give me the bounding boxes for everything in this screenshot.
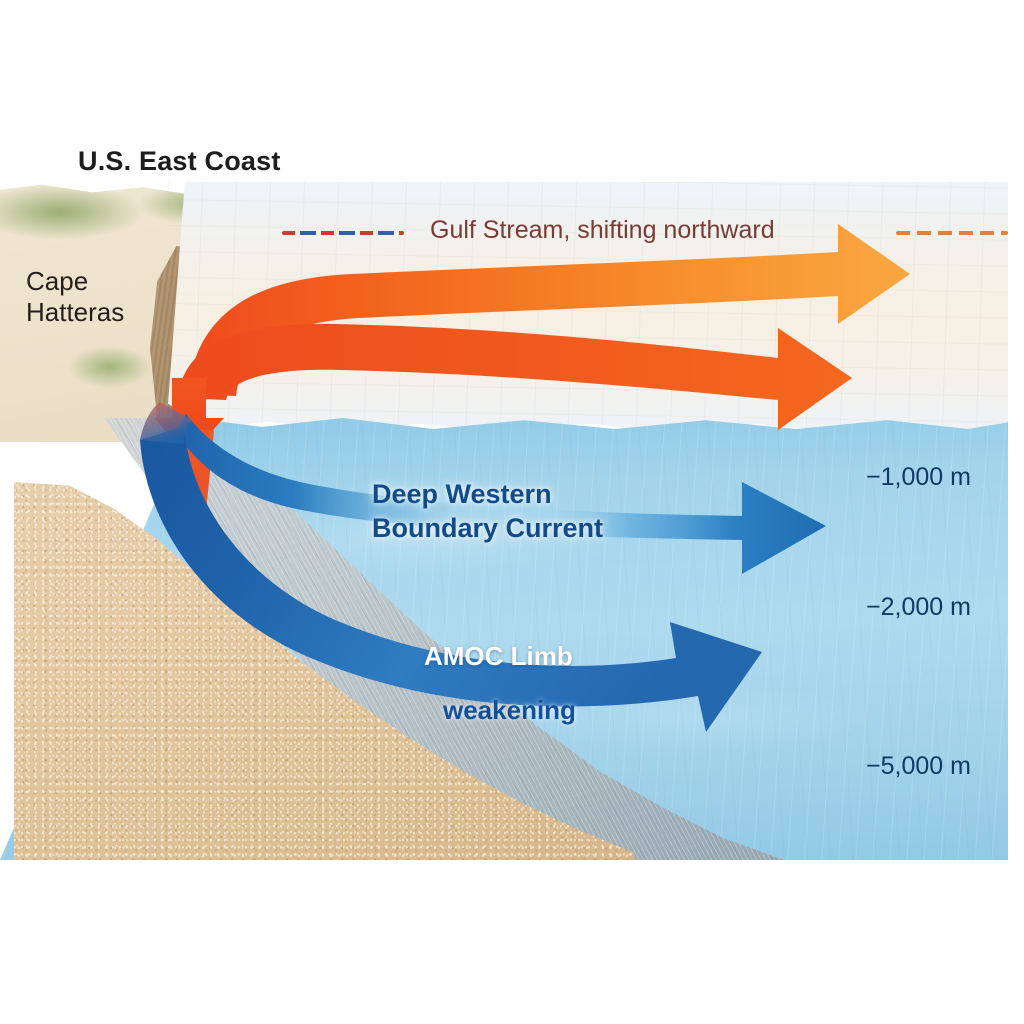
page-title: U.S. East Coast <box>78 146 281 177</box>
diagram-canvas: U.S. East Coast Cape Hatteras Gulf Strea… <box>0 0 1024 1024</box>
amoc-limb-arrow <box>140 402 762 732</box>
amoc-weakening-label: weakening <box>443 695 576 726</box>
ocean-cross-section-figure: U.S. East Coast Cape Hatteras Gulf Strea… <box>0 182 1008 860</box>
amoc-limb-label: AMOC Limb <box>424 641 573 672</box>
dwbc-label-line1: Deep Western <box>372 478 603 512</box>
depth-tick-2000m: −2,000 m <box>866 593 971 622</box>
gulf-stream-caption: Gulf Stream, shifting northward <box>430 216 775 245</box>
cape-hatteras-label-line1: Cape <box>26 266 124 297</box>
deep-western-boundary-current-label: Deep Western Boundary Current <box>372 478 603 546</box>
depth-tick-5000m: −5,000 m <box>866 752 971 781</box>
depth-tick-1000m: −1,000 m <box>866 463 971 492</box>
gulf-stream-guide-dash-right <box>896 231 1008 235</box>
dwbc-label-line2: Boundary Current <box>372 512 603 546</box>
gulf-stream-arrow-lower <box>178 324 852 430</box>
cape-hatteras-label: Cape Hatteras <box>26 266 124 327</box>
cape-hatteras-label-line2: Hatteras <box>26 297 124 328</box>
gulf-stream-guide-dash-left <box>282 231 404 235</box>
